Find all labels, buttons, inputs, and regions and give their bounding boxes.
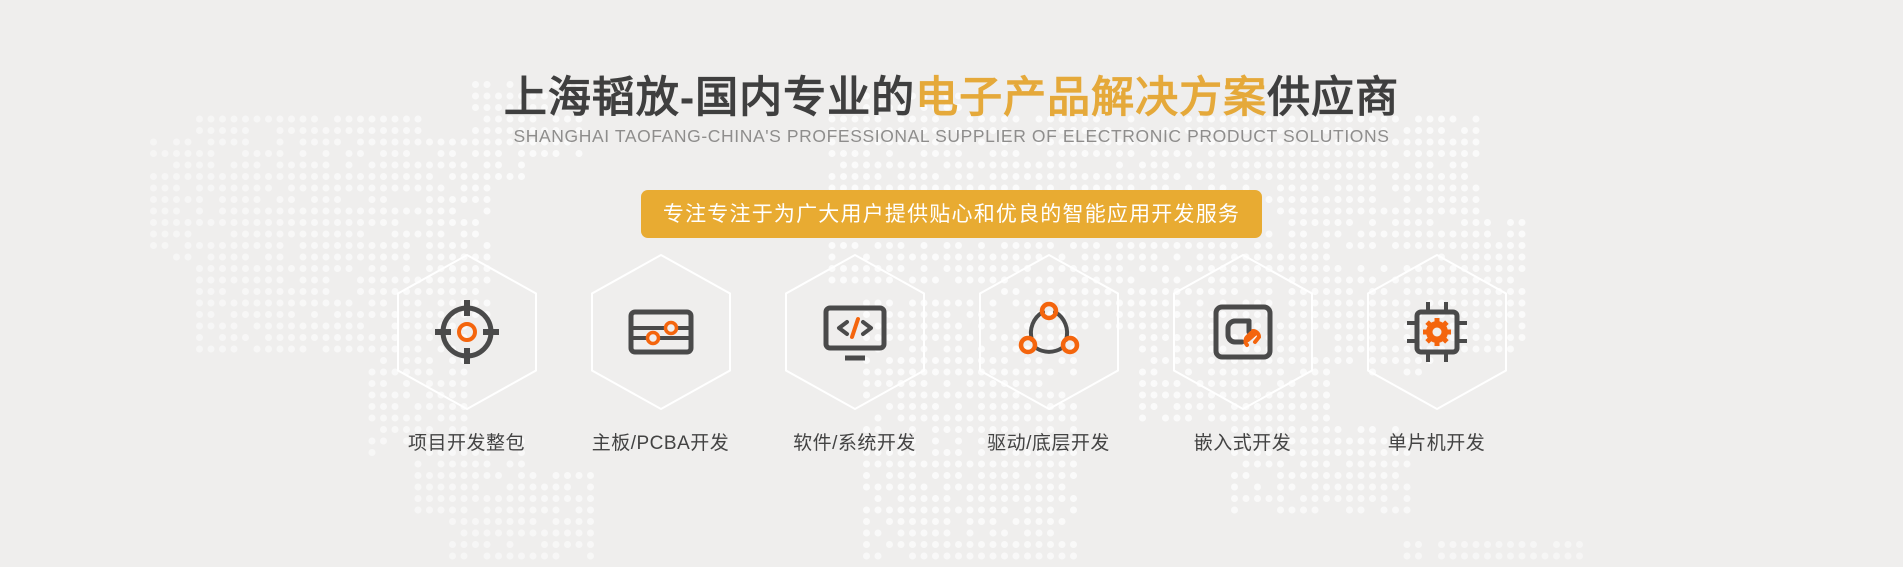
service-label: 主板/PCBA开发 — [592, 428, 730, 455]
hexagon-frame — [588, 252, 734, 412]
banner-headline: 上海韬放-国内专业的电子产品解决方案供应商 — [0, 74, 1903, 123]
headline-lead: 上海韬放-国内专业的 — [504, 74, 915, 122]
hero-banner: 上海韬放-国内专业的电子产品解决方案供应商 SHANGHAI TAOFANG-C… — [0, 0, 1903, 567]
headline-tail: 供应商 — [1267, 74, 1399, 122]
service-item-embedded[interactable]: 嵌入式开发 — [1146, 252, 1340, 455]
monitor-code-icon — [819, 296, 891, 368]
hexagon-frame — [394, 252, 540, 412]
service-label: 单片机开发 — [1388, 428, 1486, 455]
headline-accent: 电子产品解决方案 — [915, 74, 1267, 122]
hexagon-frame — [1170, 252, 1316, 412]
banner-subheadline: SHANGHAI TAOFANG-CHINA'S PROFESSIONAL SU… — [0, 126, 1903, 147]
embedded-chip-link-icon — [1207, 296, 1279, 368]
service-item-driver-lowlevel[interactable]: 驱动/底层开发 — [952, 252, 1146, 455]
service-list: 项目开发整包 — [0, 252, 1903, 455]
service-item-pcba[interactable]: 主板/PCBA开发 — [564, 252, 758, 455]
hexagon-frame — [782, 252, 928, 412]
service-label: 项目开发整包 — [408, 428, 525, 455]
service-label: 驱动/底层开发 — [987, 428, 1110, 455]
circuit-board-icon — [625, 296, 697, 368]
service-item-project-package[interactable]: 项目开发整包 — [370, 252, 564, 455]
service-item-mcu[interactable]: 单片机开发 — [1340, 252, 1534, 455]
hexagon-frame — [976, 252, 1122, 412]
crosshair-target-icon — [431, 296, 503, 368]
hexagon-frame — [1364, 252, 1510, 412]
banner-badge-row: 专注专注于为广大用户提供贴心和优良的智能应用开发服务 — [0, 190, 1903, 238]
banner-badge: 专注专注于为广大用户提供贴心和优良的智能应用开发服务 — [641, 190, 1262, 238]
microcontroller-gear-icon — [1401, 296, 1473, 368]
service-label: 嵌入式开发 — [1194, 428, 1292, 455]
node-network-icon — [1013, 296, 1085, 368]
service-item-software-system[interactable]: 软件/系统开发 — [758, 252, 952, 455]
service-label: 软件/系统开发 — [793, 428, 916, 455]
